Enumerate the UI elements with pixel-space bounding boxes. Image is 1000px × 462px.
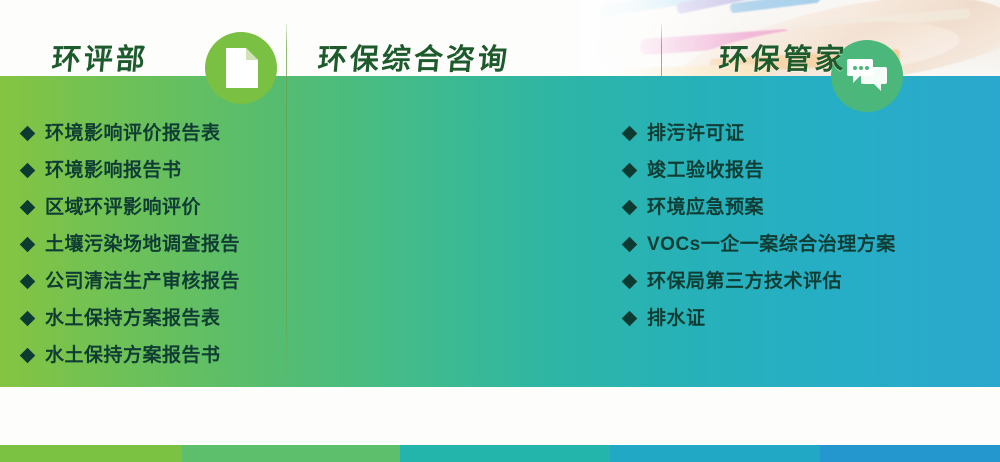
diamond-bullet-icon: [20, 311, 36, 327]
diamond-bullet-icon: [20, 126, 36, 142]
diamond-bullet-icon: [622, 274, 638, 290]
list-item-label: 土壤污染场地调查报告: [45, 235, 240, 254]
list-item[interactable]: 土壤污染场地调查报告: [22, 235, 240, 254]
footer-segment: [400, 445, 610, 462]
diamond-bullet-icon: [622, 200, 638, 216]
diamond-bullet-icon: [20, 237, 36, 253]
diamond-bullet-icon: [622, 163, 638, 179]
bottom-white-gap: [0, 387, 1000, 445]
footer-color-bar: [0, 445, 1000, 462]
footer-segment: [0, 445, 182, 462]
list-item[interactable]: 水土保持方案报告表: [22, 309, 240, 328]
list-eia: 环境影响评价报告表 环境影响报告书 区域环评影响评价 土壤污染场地调查报告 公司…: [22, 124, 240, 383]
diamond-bullet-icon: [20, 200, 36, 216]
column-title-consulting: 环保综合咨询: [316, 36, 512, 78]
document-icon: [205, 32, 277, 104]
column-title-steward: 环保管家: [717, 36, 849, 78]
footer-segment: [182, 445, 400, 462]
diamond-bullet-icon: [622, 237, 638, 253]
list-item-label: 环境影响报告书: [45, 161, 182, 180]
list-item-label: 区域环评影响评价: [45, 198, 201, 217]
list-item[interactable]: 公司清洁生产审核报告: [22, 272, 240, 291]
footer-segment: [610, 445, 820, 462]
poster-root: 环评部 环境影响评价报告表 环境影响报告书 区域环评影响评价 土壤污: [0, 0, 1000, 462]
list-item-label: 水土保持方案报告表: [45, 309, 221, 328]
diamond-bullet-icon: [622, 311, 638, 327]
list-item-label: 环境影响评价报告表: [45, 124, 221, 143]
diamond-bullet-icon: [20, 274, 36, 290]
diamond-bullet-icon: [20, 348, 36, 364]
list-item-label: 公司清洁生产审核报告: [45, 272, 240, 291]
list-item[interactable]: 环境影响报告书: [22, 161, 240, 180]
diamond-bullet-icon: [20, 163, 36, 179]
diamond-bullet-icon: [622, 126, 638, 142]
list-item[interactable]: 水土保持方案报告书: [22, 346, 240, 365]
footer-segment: [820, 445, 1000, 462]
list-item-label: 水土保持方案报告书: [45, 346, 221, 365]
column-title-eia: 环评部: [50, 36, 150, 78]
list-item[interactable]: 环境影响评价报告表: [22, 124, 240, 143]
list-item[interactable]: 区域环评影响评价: [22, 198, 240, 217]
